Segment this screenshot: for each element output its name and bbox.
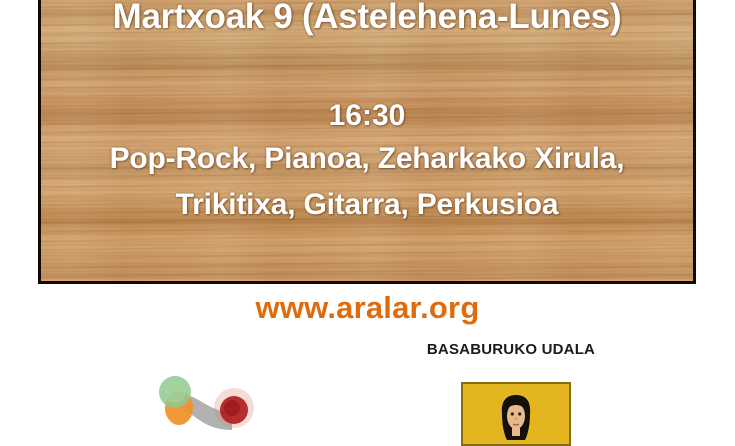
wood-panel: Martxoak 9 (Astelehena-Lunes) 16:30 Pop-…	[38, 0, 696, 284]
wood-grain-texture	[41, 0, 693, 281]
page-title: Martxoak 9 (Astelehena-Lunes)	[41, 0, 693, 35]
organisation-name: BASABURUKO UDALA	[381, 341, 641, 358]
poster-canvas: Martxoak 9 (Astelehena-Lunes) 16:30 Pop-…	[0, 0, 735, 413]
aralar-logo-icon	[146, 372, 276, 432]
website-url[interactable]: www.aralar.org	[0, 290, 735, 326]
program-line-2: Trikitixa, Gitarra, Perkusioa	[41, 189, 693, 221]
program-line-1: Pop-Rock, Pianoa, Zeharkako Xirula,	[41, 143, 693, 175]
logo-row	[0, 368, 735, 413]
aralar-logo	[146, 372, 276, 432]
event-time: 16:30	[41, 100, 693, 132]
basaburua-coat-of-arms	[461, 382, 571, 446]
coat-of-arms-face-icon	[499, 394, 533, 440]
